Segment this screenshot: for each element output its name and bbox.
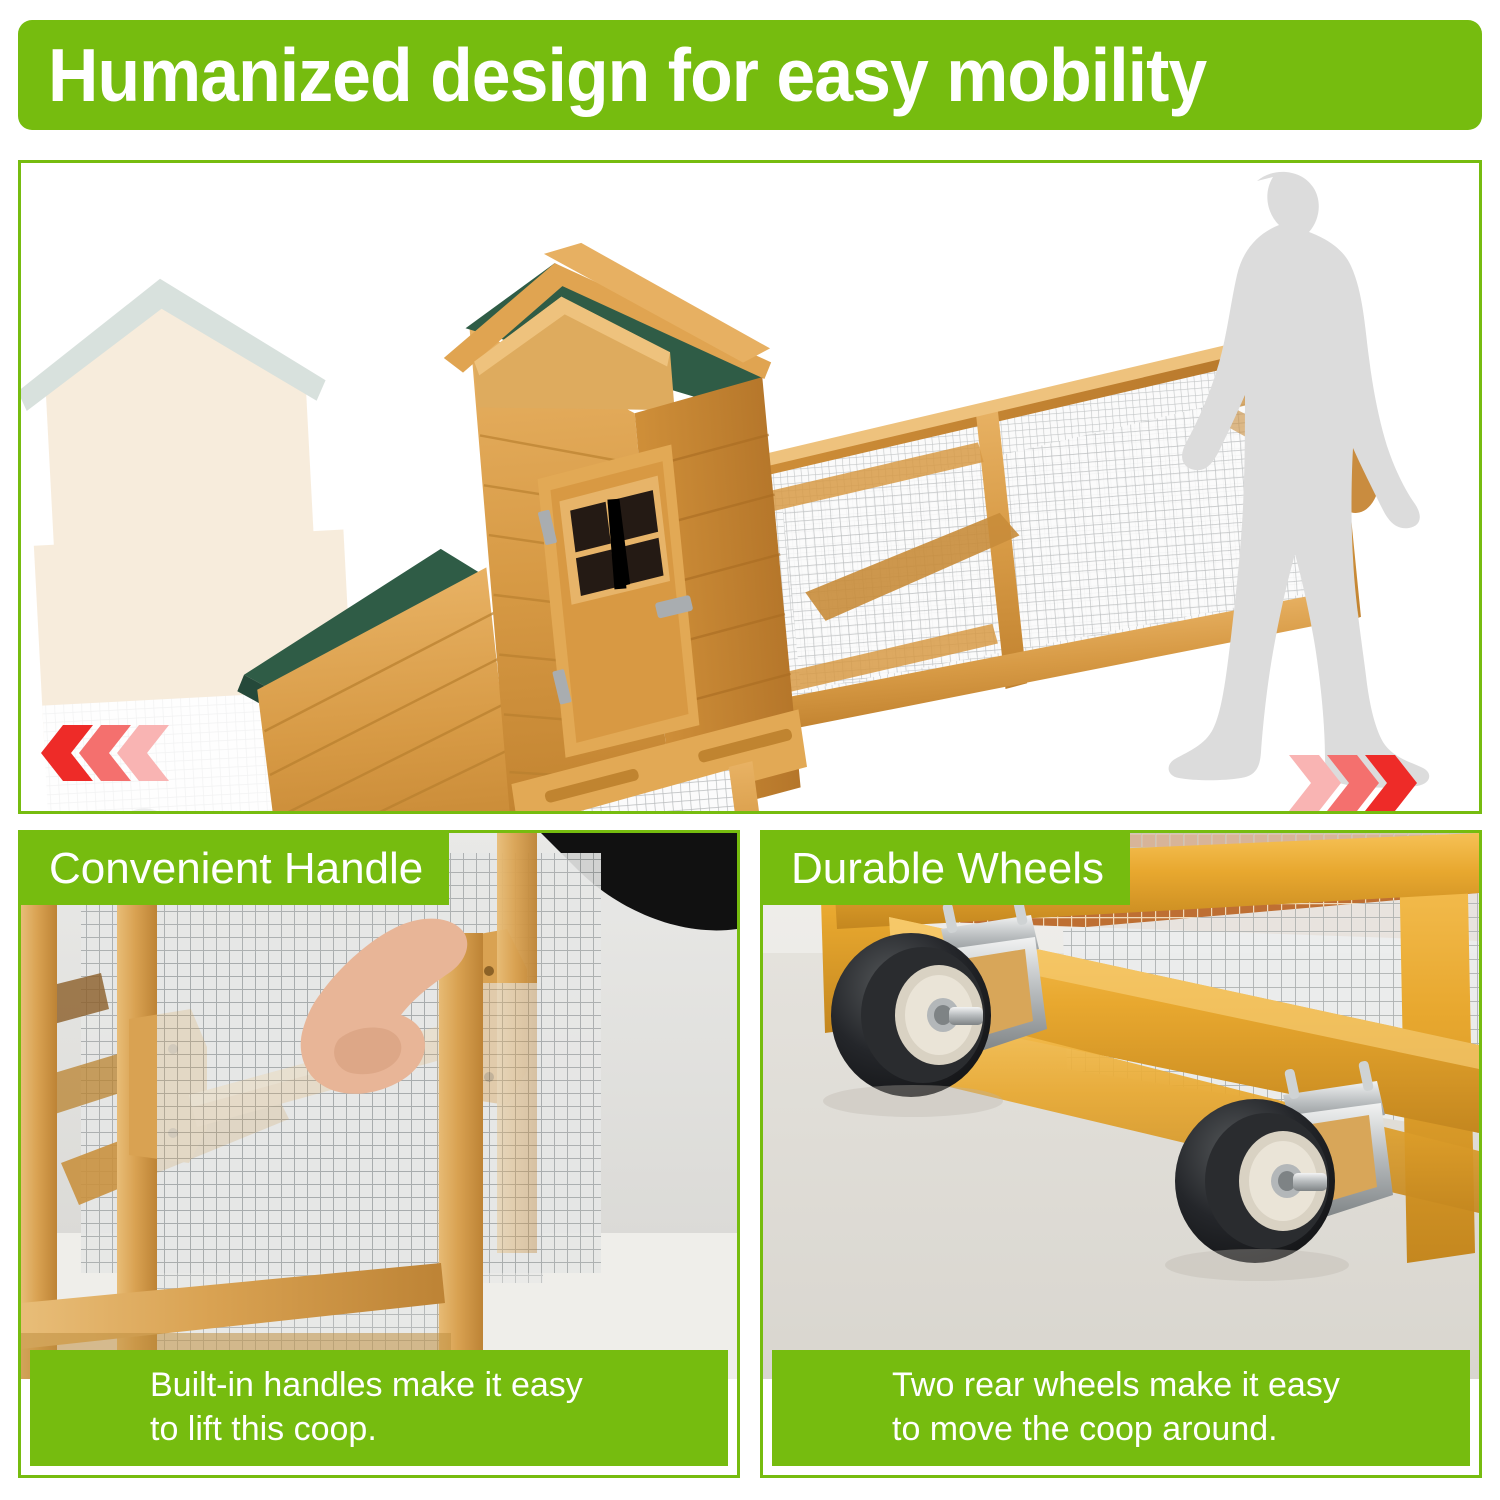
product-feature-infographic: Humanized design for easy mobility — [0, 0, 1500, 1500]
header-banner: Humanized design for easy mobility — [18, 20, 1482, 130]
feature-label-wheels: Durable Wheels — [763, 833, 1130, 905]
caption-line-2: to move the coop around. — [892, 1408, 1470, 1452]
caption-line-1: Built-in handles make it easy — [150, 1364, 728, 1408]
feature-panel-handle: Convenient Handle Built-in handles make … — [18, 830, 740, 1478]
feature-caption-wheels: Two rear wheels make it easy to move the… — [772, 1350, 1470, 1466]
caption-line-2: to lift this coop. — [150, 1408, 728, 1452]
feature-label-handle: Convenient Handle — [21, 833, 449, 905]
feature-panel-wheels: Durable Wheels Two rear wheels make it e… — [760, 830, 1482, 1478]
feature-caption-handle: Built-in handles make it easy to lift th… — [30, 1350, 728, 1466]
handle-photo — [21, 833, 737, 1379]
feature-label-handle-text: Convenient Handle — [49, 847, 423, 891]
page-title: Humanized design for easy mobility — [48, 38, 1206, 113]
feature-panels-row: Convenient Handle Built-in handles make … — [18, 830, 1482, 1478]
caption-line-1: Two rear wheels make it easy — [892, 1364, 1470, 1408]
wheels-photo — [763, 833, 1479, 1379]
feature-label-wheels-text: Durable Wheels — [791, 847, 1104, 891]
hero-image — [21, 163, 1479, 811]
hero-panel — [18, 160, 1482, 814]
arrows-right — [1289, 755, 1417, 811]
